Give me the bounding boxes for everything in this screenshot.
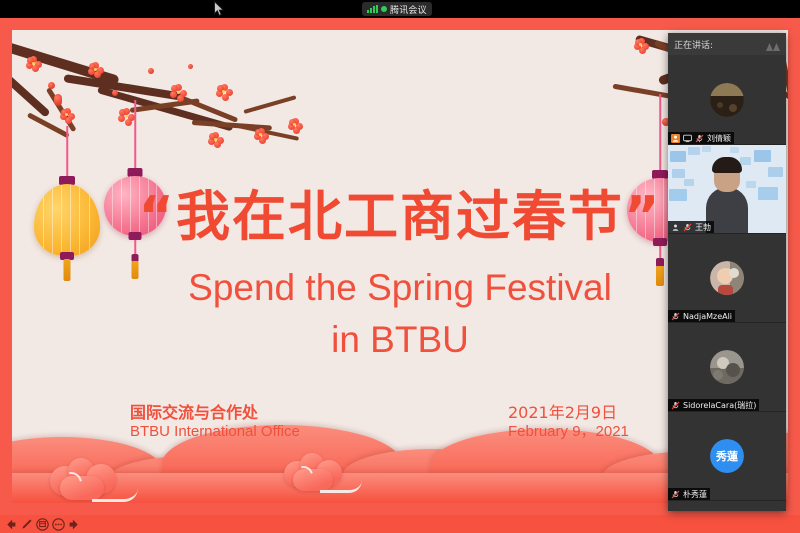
participant-tile[interactable]: 刘倩颖	[668, 55, 786, 144]
host-icon	[671, 223, 680, 232]
ellipsis-icon	[52, 518, 65, 531]
date-english: February 9，2021	[508, 422, 629, 441]
more-options-button[interactable]	[51, 517, 65, 531]
date-chinese: 2021年2月9日	[508, 403, 629, 422]
participant-name: 朴秀蓮	[683, 489, 707, 500]
screen-root: 腾讯会议	[0, 0, 800, 533]
prev-slide-button[interactable]	[3, 517, 17, 531]
tencent-meeting-label: 腾讯会议	[390, 3, 427, 16]
arrow-left-icon	[4, 518, 17, 531]
screen-share-icon	[683, 134, 692, 143]
avatar	[710, 350, 744, 384]
grid-screen-icon	[36, 518, 49, 531]
avatar	[710, 83, 744, 117]
tencent-meeting-status-pill[interactable]: 腾讯会议	[362, 2, 432, 16]
plum-bud	[54, 94, 62, 106]
org-name-english: BTBU International Office	[130, 422, 300, 441]
participant-name: 刘倩颖	[707, 133, 731, 144]
participant-namebar: 王勃	[668, 221, 714, 233]
participant-namebar: 朴秀蓮	[668, 488, 710, 500]
participant-name: 王勃	[695, 222, 711, 233]
video-feed	[668, 145, 786, 233]
system-status-bar: 腾讯会议	[0, 0, 800, 18]
mic-muted-icon	[671, 312, 680, 321]
auspicious-cloud-motif	[284, 453, 354, 497]
mic-muted-icon	[671, 401, 680, 410]
participant-namebar: NadjaMzeAli	[668, 310, 735, 322]
plum-bud	[112, 90, 118, 96]
slide-overview-button[interactable]	[35, 517, 49, 531]
avatar-photo-gray	[710, 350, 744, 384]
plum-bud	[48, 82, 55, 89]
person-hair	[712, 157, 742, 173]
pencil-icon	[20, 518, 33, 531]
meeting-panel-header[interactable]: 正在讲话:	[668, 33, 786, 55]
signal-bars-icon	[367, 5, 378, 13]
plum-bud	[188, 64, 193, 69]
host-icon	[671, 134, 680, 143]
arrow-right-icon	[68, 518, 81, 531]
next-slide-button[interactable]	[67, 517, 81, 531]
participant-tile[interactable]: SidorelaCara(瑞拉)	[668, 322, 786, 411]
mic-muted-icon	[671, 490, 680, 499]
participant-tile[interactable]: 秀蓮 朴秀蓮	[668, 411, 786, 500]
avatar	[710, 261, 744, 295]
pen-tool-button[interactable]	[19, 517, 33, 531]
org-name-chinese: 国际交流与合作处	[130, 403, 300, 422]
mic-muted-icon	[695, 134, 704, 143]
participant-tile[interactable]	[668, 500, 786, 511]
avatar-photo-dark	[710, 83, 744, 117]
participant-namebar: 刘倩颖	[668, 132, 734, 144]
plum-bud	[148, 68, 154, 74]
participant-name: NadjaMzeAli	[683, 312, 732, 321]
green-recording-dot	[381, 6, 387, 12]
participant-tile[interactable]: NadjaMzeAli	[668, 233, 786, 322]
avatar-initials: 秀蓮	[710, 439, 744, 473]
organization-block: 国际交流与合作处 BTBU International Office	[130, 403, 300, 441]
participant-tile[interactable]: 王勃	[668, 144, 786, 233]
meeting-participants-panel[interactable]: 正在讲话:	[668, 33, 786, 511]
date-block: 2021年2月9日 February 9，2021	[508, 403, 629, 441]
participant-namebar: SidorelaCara(瑞拉)	[668, 399, 759, 411]
avatar-photo-portrait	[710, 261, 744, 295]
speaking-now-label: 正在讲话:	[674, 38, 713, 51]
participant-name: SidorelaCara(瑞拉)	[683, 400, 756, 411]
mic-muted-icon	[683, 223, 692, 232]
avatar: 秀蓮	[710, 439, 744, 473]
auspicious-cloud-motif	[48, 458, 126, 503]
presenter-toolbar	[0, 515, 800, 533]
